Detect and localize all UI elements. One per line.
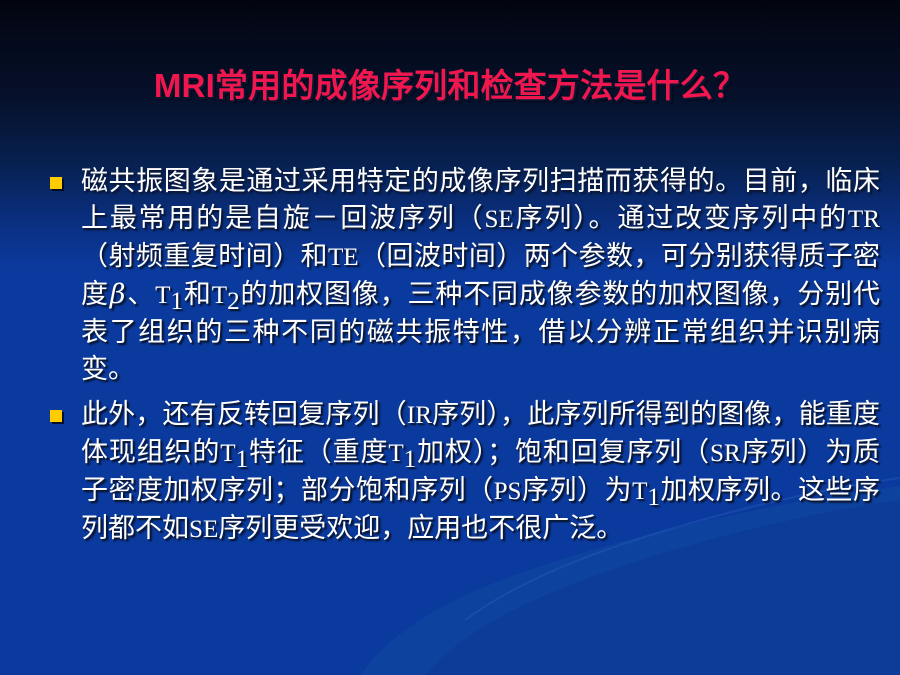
slide-body: 磁共振图象是通过采用特定的成像序列扫描而获得的。目前，临床上最常用的是自旋－回波… [50,163,880,556]
square-bullet-icon [50,177,62,189]
bullet-paragraph-2: 此外，还有反转回复序列（IR序列），此序列所得到的图像，能重度体现组织的T1特征… [81,396,880,548]
list-item: 此外，还有反转回复序列（IR序列），此序列所得到的图像，能重度体现组织的T1特征… [50,396,880,548]
list-item: 磁共振图象是通过采用特定的成像序列扫描而获得的。目前，临床上最常用的是自旋－回波… [50,163,880,388]
bullet-paragraph-1: 磁共振图象是通过采用特定的成像序列扫描而获得的。目前，临床上最常用的是自旋－回波… [81,163,880,388]
slide-title: MRI常用的成像序列和检查方法是什么？ [0,68,900,104]
presentation-slide: MRI常用的成像序列和检查方法是什么？ 磁共振图象是通过采用特定的成像序列扫描而… [0,0,900,675]
slide-content-area: MRI常用的成像序列和检查方法是什么？ 磁共振图象是通过采用特定的成像序列扫描而… [0,0,900,675]
square-bullet-icon [50,410,62,422]
